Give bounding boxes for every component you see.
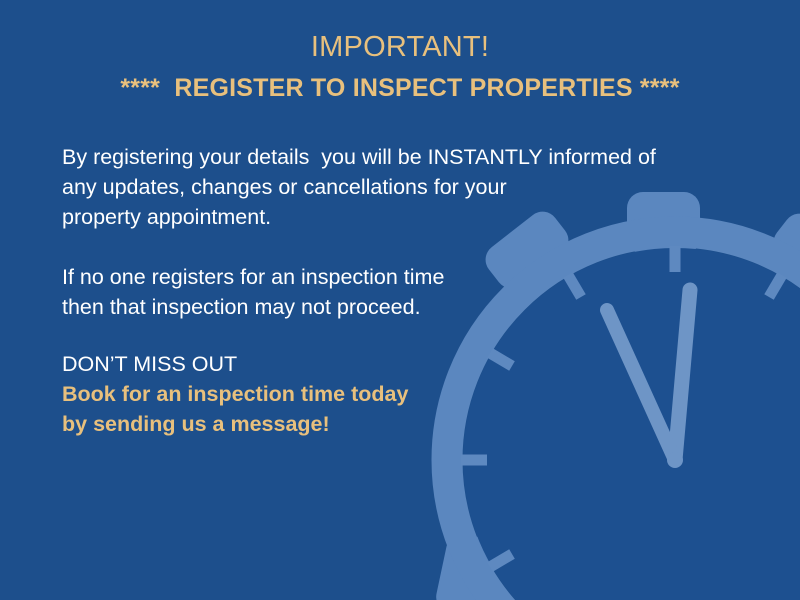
paragraph-spacer — [62, 322, 722, 349]
heading-block: IMPORTANT! **** REGISTER TO INSPECT PROP… — [0, 28, 800, 106]
paragraph-registering-benefits: By registering your details you will be … — [62, 142, 722, 232]
page-title-register: **** REGISTER TO INSPECT PROPERTIES **** — [0, 70, 800, 106]
paragraph-no-registration-warning: If no one registers for an inspection ti… — [62, 262, 722, 322]
stopwatch-pivot — [667, 452, 683, 468]
slide-canvas: IMPORTANT! **** REGISTER TO INSPECT PROP… — [0, 0, 800, 600]
body-line: any updates, changes or cancellations fo… — [62, 172, 722, 202]
body-block: By registering your details you will be … — [62, 142, 722, 439]
body-line: property appointment. — [62, 202, 722, 232]
page-title-important: IMPORTANT! — [0, 28, 800, 66]
body-line: By registering your details you will be … — [62, 142, 722, 172]
body-line: If no one registers for an inspection ti… — [62, 262, 722, 292]
cta-book-inspection: Book for an inspection time today — [62, 379, 722, 409]
paragraph-call-to-action: DON’T MISS OUT Book for an inspection ti… — [62, 349, 722, 439]
cta-dont-miss-out: DON’T MISS OUT — [62, 349, 722, 379]
body-line: then that inspection may not proceed. — [62, 292, 722, 322]
paragraph-spacer — [62, 232, 722, 262]
cta-send-message: by sending us a message! — [62, 409, 722, 439]
